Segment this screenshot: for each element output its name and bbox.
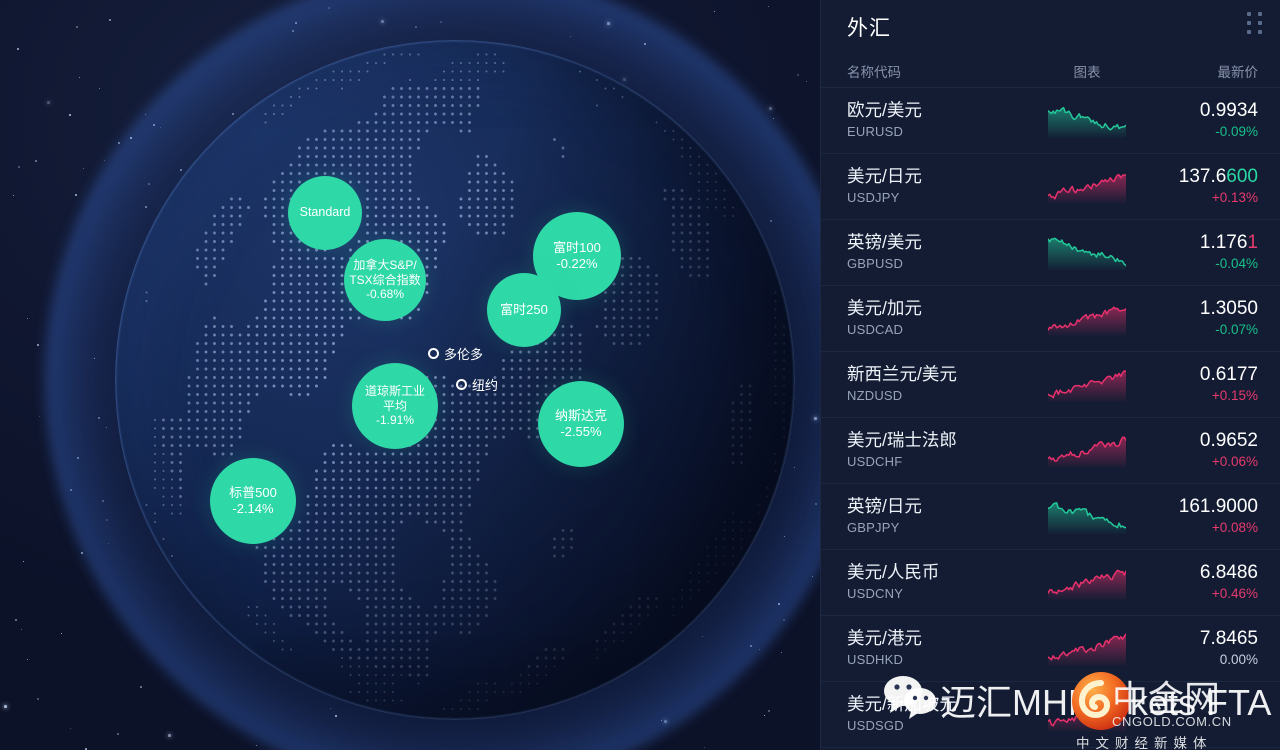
- city-marker-label: 多伦多: [444, 344, 483, 363]
- column-header-price: 最新价: [1146, 61, 1258, 81]
- quote-price-head: 7.8465: [1200, 628, 1258, 649]
- quote-price-cell: 6.8486+0.46%: [1146, 561, 1258, 605]
- star: [47, 101, 50, 104]
- star: [37, 698, 39, 700]
- star: [61, 633, 62, 634]
- globe-visualization: Standard加拿大S&P/TSX综合指数-0.68%富时100-0.22%富…: [0, 0, 820, 750]
- star: [17, 48, 19, 50]
- index-bubble-name: 富时100: [553, 240, 601, 256]
- quote-last-price: 1.1761: [1146, 231, 1258, 255]
- quote-code: USDCAD: [847, 320, 1028, 340]
- quote-last-price: 0.9934: [1146, 99, 1258, 123]
- index-bubble-value: -1.91%: [376, 413, 414, 428]
- star: [714, 11, 715, 12]
- quote-pair: 新西兰元/美元: [847, 363, 1028, 386]
- quote-row[interactable]: 美元/瑞士法郎USDCHF0.9652+0.06%: [821, 418, 1280, 484]
- quote-name-cell: 欧元/美元EURUSD: [847, 99, 1028, 141]
- quote-last-price: 0.6177: [1146, 363, 1258, 387]
- quote-change-percent: +0.08%: [1146, 518, 1258, 538]
- quote-name-cell: 英镑/美元GBPUSD: [847, 231, 1028, 273]
- quote-change-percent: 0.00%: [1146, 650, 1258, 670]
- drag-handle-icon[interactable]: [1247, 12, 1262, 34]
- quote-name-cell: 美元/日元USDJPY: [847, 165, 1028, 207]
- quote-code: USDSGD: [847, 716, 1028, 736]
- quote-row[interactable]: 欧元/美元EURUSD0.9934-0.09%: [821, 88, 1280, 154]
- quote-pair: 美元/日元: [847, 165, 1028, 188]
- quote-price-head: 0.6177: [1200, 364, 1258, 385]
- star: [79, 77, 80, 78]
- star: [18, 166, 20, 168]
- index-bubble-name: 纳斯达克: [555, 408, 607, 424]
- quote-change-percent: -0.09%: [1146, 122, 1258, 142]
- quote-name-cell: 美元/加元USDCAD: [847, 297, 1028, 339]
- quote-price-cell: 7.84650.00%: [1146, 627, 1258, 671]
- star: [13, 195, 14, 196]
- index-bubble[interactable]: 标普500-2.14%: [210, 458, 296, 544]
- quote-price-cell: 0.9934-0.09%: [1146, 99, 1258, 143]
- quote-list: 欧元/美元EURUSD0.9934-0.09%美元/日元USDJPY137.66…: [821, 88, 1280, 748]
- star: [768, 6, 769, 7]
- column-header-name: 名称代码: [847, 61, 1028, 81]
- quote-price-tail: 600: [1226, 166, 1258, 187]
- star: [35, 160, 37, 162]
- star: [70, 728, 71, 729]
- star: [83, 168, 84, 169]
- globe: [115, 40, 795, 720]
- quote-code: USDJPY: [847, 188, 1028, 208]
- index-bubble[interactable]: 富时250: [487, 273, 561, 347]
- index-bubble[interactable]: Standard: [288, 176, 362, 250]
- quote-pair: 美元/加元: [847, 297, 1028, 320]
- star: [109, 19, 111, 21]
- quote-row[interactable]: 美元/日元USDJPY137.6600+0.13%: [821, 154, 1280, 220]
- star: [4, 705, 7, 708]
- quote-price-head: 6.8486: [1200, 562, 1258, 583]
- star: [39, 416, 40, 417]
- quote-pair: 美元/瑞士法郎: [847, 429, 1028, 452]
- quote-code: USDHKD: [847, 650, 1028, 670]
- quote-row[interactable]: 新西兰元/美元NZDUSD0.6177+0.15%: [821, 352, 1280, 418]
- quote-row[interactable]: 美元/新加坡元USDSGD: [821, 682, 1280, 748]
- quote-sparkline[interactable]: [1028, 566, 1146, 600]
- star: [704, 747, 705, 748]
- quote-pair: 美元/人民币: [847, 561, 1028, 584]
- quote-last-price: 161.9000: [1146, 495, 1258, 519]
- quote-price-cell: 161.9000+0.08%: [1146, 495, 1258, 539]
- index-bubble-name: 加拿大S&P/: [353, 258, 416, 273]
- quote-last-price: 1.3050: [1146, 297, 1258, 321]
- quote-sparkline[interactable]: [1028, 368, 1146, 402]
- index-bubble-value: -0.68%: [366, 287, 404, 302]
- globe-sphere: [115, 40, 795, 720]
- panel-title: 外汇: [847, 12, 891, 42]
- quote-change-percent: -0.07%: [1146, 320, 1258, 340]
- quote-price-head: 1.3050: [1200, 298, 1258, 319]
- quote-code: GBPUSD: [847, 254, 1028, 274]
- quote-row[interactable]: 美元/人民币USDCNY6.8486+0.46%: [821, 550, 1280, 616]
- index-bubble-value: -2.14%: [232, 501, 273, 517]
- quote-pair: 英镑/美元: [847, 231, 1028, 254]
- index-bubble-value: -2.55%: [560, 424, 601, 440]
- star: [168, 734, 171, 737]
- star: [27, 318, 28, 319]
- quote-sparkline[interactable]: [1028, 434, 1146, 468]
- quote-change-percent: +0.46%: [1146, 584, 1258, 604]
- index-bubble-name: 道琼斯工业: [365, 384, 425, 399]
- city-marker-label: 纽约: [472, 375, 498, 394]
- index-bubble-name: 标普500: [229, 485, 277, 501]
- quote-row[interactable]: 美元/港元USDHKD7.84650.00%: [821, 616, 1280, 682]
- quote-sparkline[interactable]: [1028, 302, 1146, 336]
- star: [806, 81, 807, 82]
- star: [797, 74, 799, 76]
- quote-code: GBPJPY: [847, 518, 1028, 538]
- star: [75, 194, 77, 196]
- quote-change-percent: +0.15%: [1146, 386, 1258, 406]
- quote-price-cell: 1.3050-0.07%: [1146, 297, 1258, 341]
- quote-pair: 英镑/日元: [847, 495, 1028, 518]
- quote-sparkline[interactable]: [1028, 632, 1146, 666]
- star: [256, 745, 257, 746]
- quote-code: EURUSD: [847, 122, 1028, 142]
- star: [37, 344, 39, 346]
- quote-change-percent: +0.06%: [1146, 452, 1258, 472]
- app-root: Standard加拿大S&P/TSX综合指数-0.68%富时100-0.22%富…: [0, 0, 1280, 750]
- star: [76, 26, 78, 28]
- star: [69, 114, 71, 116]
- quote-price-cell: 0.6177+0.15%: [1146, 363, 1258, 407]
- quote-name-cell: 新西兰元/美元NZDUSD: [847, 363, 1028, 405]
- quote-price-head: 0.9934: [1200, 100, 1258, 121]
- quote-row[interactable]: 英镑/日元GBPJPY161.9000+0.08%: [821, 484, 1280, 550]
- index-bubble[interactable]: 加拿大S&P/TSX综合指数-0.68%: [344, 239, 426, 321]
- quote-sparkline[interactable]: [1028, 236, 1146, 270]
- city-marker-ring: [428, 348, 439, 359]
- star: [23, 561, 24, 562]
- star: [15, 619, 17, 621]
- quote-code: USDCNY: [847, 584, 1028, 604]
- quote-code: NZDUSD: [847, 386, 1028, 406]
- star: [21, 629, 22, 630]
- quote-price-cell: 0.9652+0.06%: [1146, 429, 1258, 473]
- quote-name-cell: 美元/新加坡元USDSGD: [847, 693, 1028, 735]
- forex-panel: 外汇 名称代码 图表 最新价 欧元/美元EURUSD0.9934-0.09%美元…: [820, 0, 1280, 750]
- city-marker[interactable]: 多伦多: [428, 344, 483, 363]
- star: [27, 659, 28, 660]
- globe-rim: [115, 40, 795, 720]
- quote-price-head: 137.6: [1179, 166, 1227, 187]
- quote-sparkline[interactable]: [1028, 500, 1146, 534]
- star: [104, 160, 105, 161]
- quote-name-cell: 美元/瑞士法郎USDCHF: [847, 429, 1028, 471]
- quote-sparkline[interactable]: [1028, 170, 1146, 204]
- index-bubble-name2: 平均: [383, 399, 407, 414]
- quote-pair: 美元/新加坡元: [847, 693, 1028, 716]
- city-marker[interactable]: 纽约: [456, 375, 498, 394]
- quote-last-price: 137.6600: [1146, 165, 1258, 189]
- panel-header: 外汇: [821, 0, 1280, 54]
- column-header-chart: 图表: [1028, 61, 1146, 81]
- star: [99, 88, 100, 89]
- quote-name-cell: 美元/港元USDHKD: [847, 627, 1028, 669]
- quote-row[interactable]: 英镑/美元GBPUSD1.1761-0.04%: [821, 220, 1280, 286]
- quote-name-cell: 英镑/日元GBPJPY: [847, 495, 1028, 537]
- quote-change-percent: -0.04%: [1146, 254, 1258, 274]
- quote-price-cell: 137.6600+0.13%: [1146, 165, 1258, 209]
- index-bubble[interactable]: 道琼斯工业平均-1.91%: [352, 363, 438, 449]
- index-bubble-name: Standard: [300, 205, 351, 220]
- quote-last-price: 6.8486: [1146, 561, 1258, 585]
- index-bubble-value: -0.22%: [556, 256, 597, 272]
- quote-price-cell: 1.1761-0.04%: [1146, 231, 1258, 275]
- index-bubble-name2: TSX综合指数: [349, 273, 420, 288]
- quote-price-tail: 1: [1247, 232, 1258, 253]
- quote-change-percent: +0.13%: [1146, 188, 1258, 208]
- quote-pair: 欧元/美元: [847, 99, 1028, 122]
- quote-price-head: 1.176: [1200, 232, 1248, 253]
- quote-sparkline[interactable]: [1028, 698, 1146, 732]
- quote-name-cell: 美元/人民币USDCNY: [847, 561, 1028, 603]
- star: [117, 733, 119, 735]
- quote-last-price: 7.8465: [1146, 627, 1258, 651]
- quote-price-head: 0.9652: [1200, 430, 1258, 451]
- quote-pair: 美元/港元: [847, 627, 1028, 650]
- index-bubble-name: 富时250: [500, 302, 548, 318]
- quote-row[interactable]: 美元/加元USDCAD1.3050-0.07%: [821, 286, 1280, 352]
- quote-code: USDCHF: [847, 452, 1028, 472]
- table-column-headers: 名称代码 图表 最新价: [821, 54, 1280, 88]
- quote-sparkline[interactable]: [1028, 104, 1146, 138]
- quote-last-price: 0.9652: [1146, 429, 1258, 453]
- index-bubble[interactable]: 纳斯达克-2.55%: [538, 381, 624, 467]
- quote-price-head: 161.9000: [1179, 496, 1258, 517]
- city-marker-ring: [456, 379, 467, 390]
